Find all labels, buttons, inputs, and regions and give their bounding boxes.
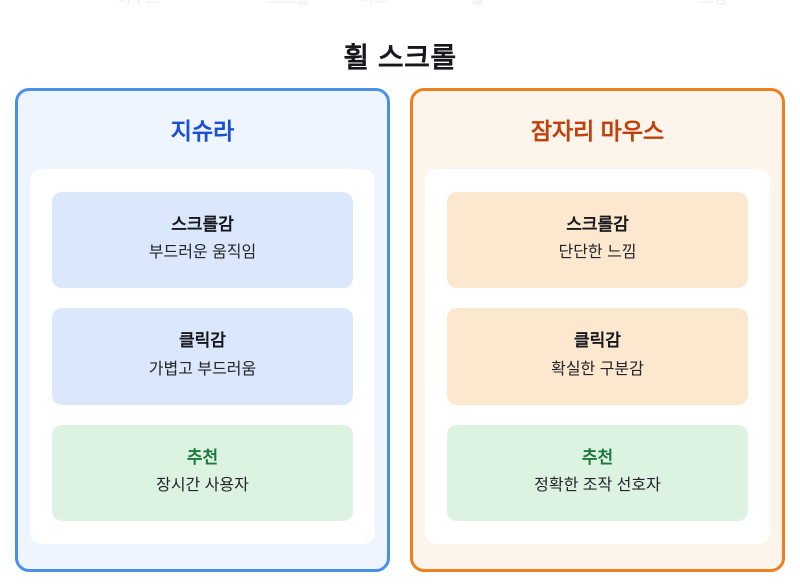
spec-label: 추천 (457, 447, 738, 468)
spec-value: 가볍고 부드러움 (62, 360, 343, 381)
clipped-fragment: 스크롤 (268, 0, 309, 6)
spec-label: 클릭감 (457, 330, 738, 351)
product-card-right-title: 잠자리 마우스 (413, 118, 782, 146)
spec-item-recommendation: 추천 정확한 조작 선호자 (447, 425, 748, 521)
clipped-fragment: 휠 (470, 0, 484, 6)
product-card-left-spec-panel: 스크롤감 부드러운 움직임 클릭감 가볍고 부드러움 추천 장시간 사용자 (30, 169, 375, 544)
spec-item: 스크롤감 부드러운 움직임 (52, 192, 353, 288)
clipped-top-text-strip: 마우스 스크롤 비교 휠 느낌 (0, 0, 800, 6)
spec-value: 장시간 사용자 (62, 476, 343, 497)
spec-label: 스크롤감 (457, 214, 738, 235)
spec-label: 클릭감 (62, 330, 343, 351)
comparison-grid: 지슈라 스크롤감 부드러운 움직임 클릭감 가볍고 부드러움 추천 장시간 사용… (15, 88, 785, 572)
spec-value: 확실한 구분감 (457, 360, 738, 381)
spec-item: 클릭감 가볍고 부드러움 (52, 308, 353, 404)
page-title: 휠 스크롤 (0, 36, 800, 76)
clipped-fragment: 비교 (360, 0, 388, 6)
clipped-fragment: 마우스 (118, 0, 159, 6)
spec-item: 스크롤감 단단한 느낌 (447, 192, 748, 288)
clipped-fragment: 느낌 (700, 0, 728, 6)
spec-value: 정확한 조작 선호자 (457, 476, 738, 497)
spec-label: 추천 (62, 447, 343, 468)
spec-value: 단단한 느낌 (457, 243, 738, 264)
spec-label: 스크롤감 (62, 214, 343, 235)
product-card-right: 잠자리 마우스 스크롤감 단단한 느낌 클릭감 확실한 구분감 추천 정확한 조… (410, 88, 785, 572)
spec-value: 부드러운 움직임 (62, 243, 343, 264)
product-card-right-spec-panel: 스크롤감 단단한 느낌 클릭감 확실한 구분감 추천 정확한 조작 선호자 (425, 169, 770, 544)
product-card-left-title: 지슈라 (18, 118, 387, 146)
product-card-left: 지슈라 스크롤감 부드러운 움직임 클릭감 가볍고 부드러움 추천 장시간 사용… (15, 88, 390, 572)
spec-item-recommendation: 추천 장시간 사용자 (52, 425, 353, 521)
spec-item: 클릭감 확실한 구분감 (447, 308, 748, 404)
